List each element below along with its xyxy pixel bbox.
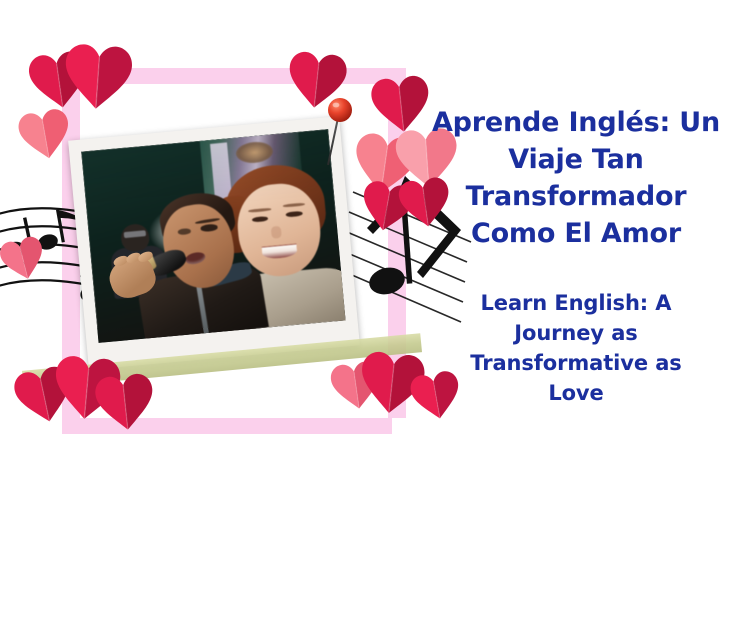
subtitle-line-3: Transformative as [420, 348, 732, 378]
heart-icon [91, 371, 159, 434]
subtitle-line-4: Love [420, 378, 732, 408]
heart-icon [60, 42, 136, 113]
title-line-1: Aprende Inglés: Un [420, 104, 732, 141]
heart-icon [0, 233, 50, 285]
title-line-4: Como El Amor [420, 215, 732, 252]
title-line-2: Viaje Tan [420, 141, 732, 178]
heart-icon [14, 106, 76, 164]
page-title: Aprende Inglés: Un Viaje Tan Transformad… [420, 104, 732, 252]
photo-vignette [81, 129, 345, 343]
title-line-3: Transformador [420, 178, 732, 215]
heart-icon [283, 49, 351, 112]
polaroid-photo-frame[interactable] [68, 116, 360, 370]
page-subtitle: Learn English: A Journey as Transformati… [420, 288, 732, 408]
poster-canvas: Aprende Inglés: Un Viaje Tan Transformad… [0, 0, 750, 629]
photo-image [81, 129, 345, 343]
subtitle-line-1: Learn English: A [420, 288, 732, 318]
subtitle-line-2: Journey as [420, 318, 732, 348]
